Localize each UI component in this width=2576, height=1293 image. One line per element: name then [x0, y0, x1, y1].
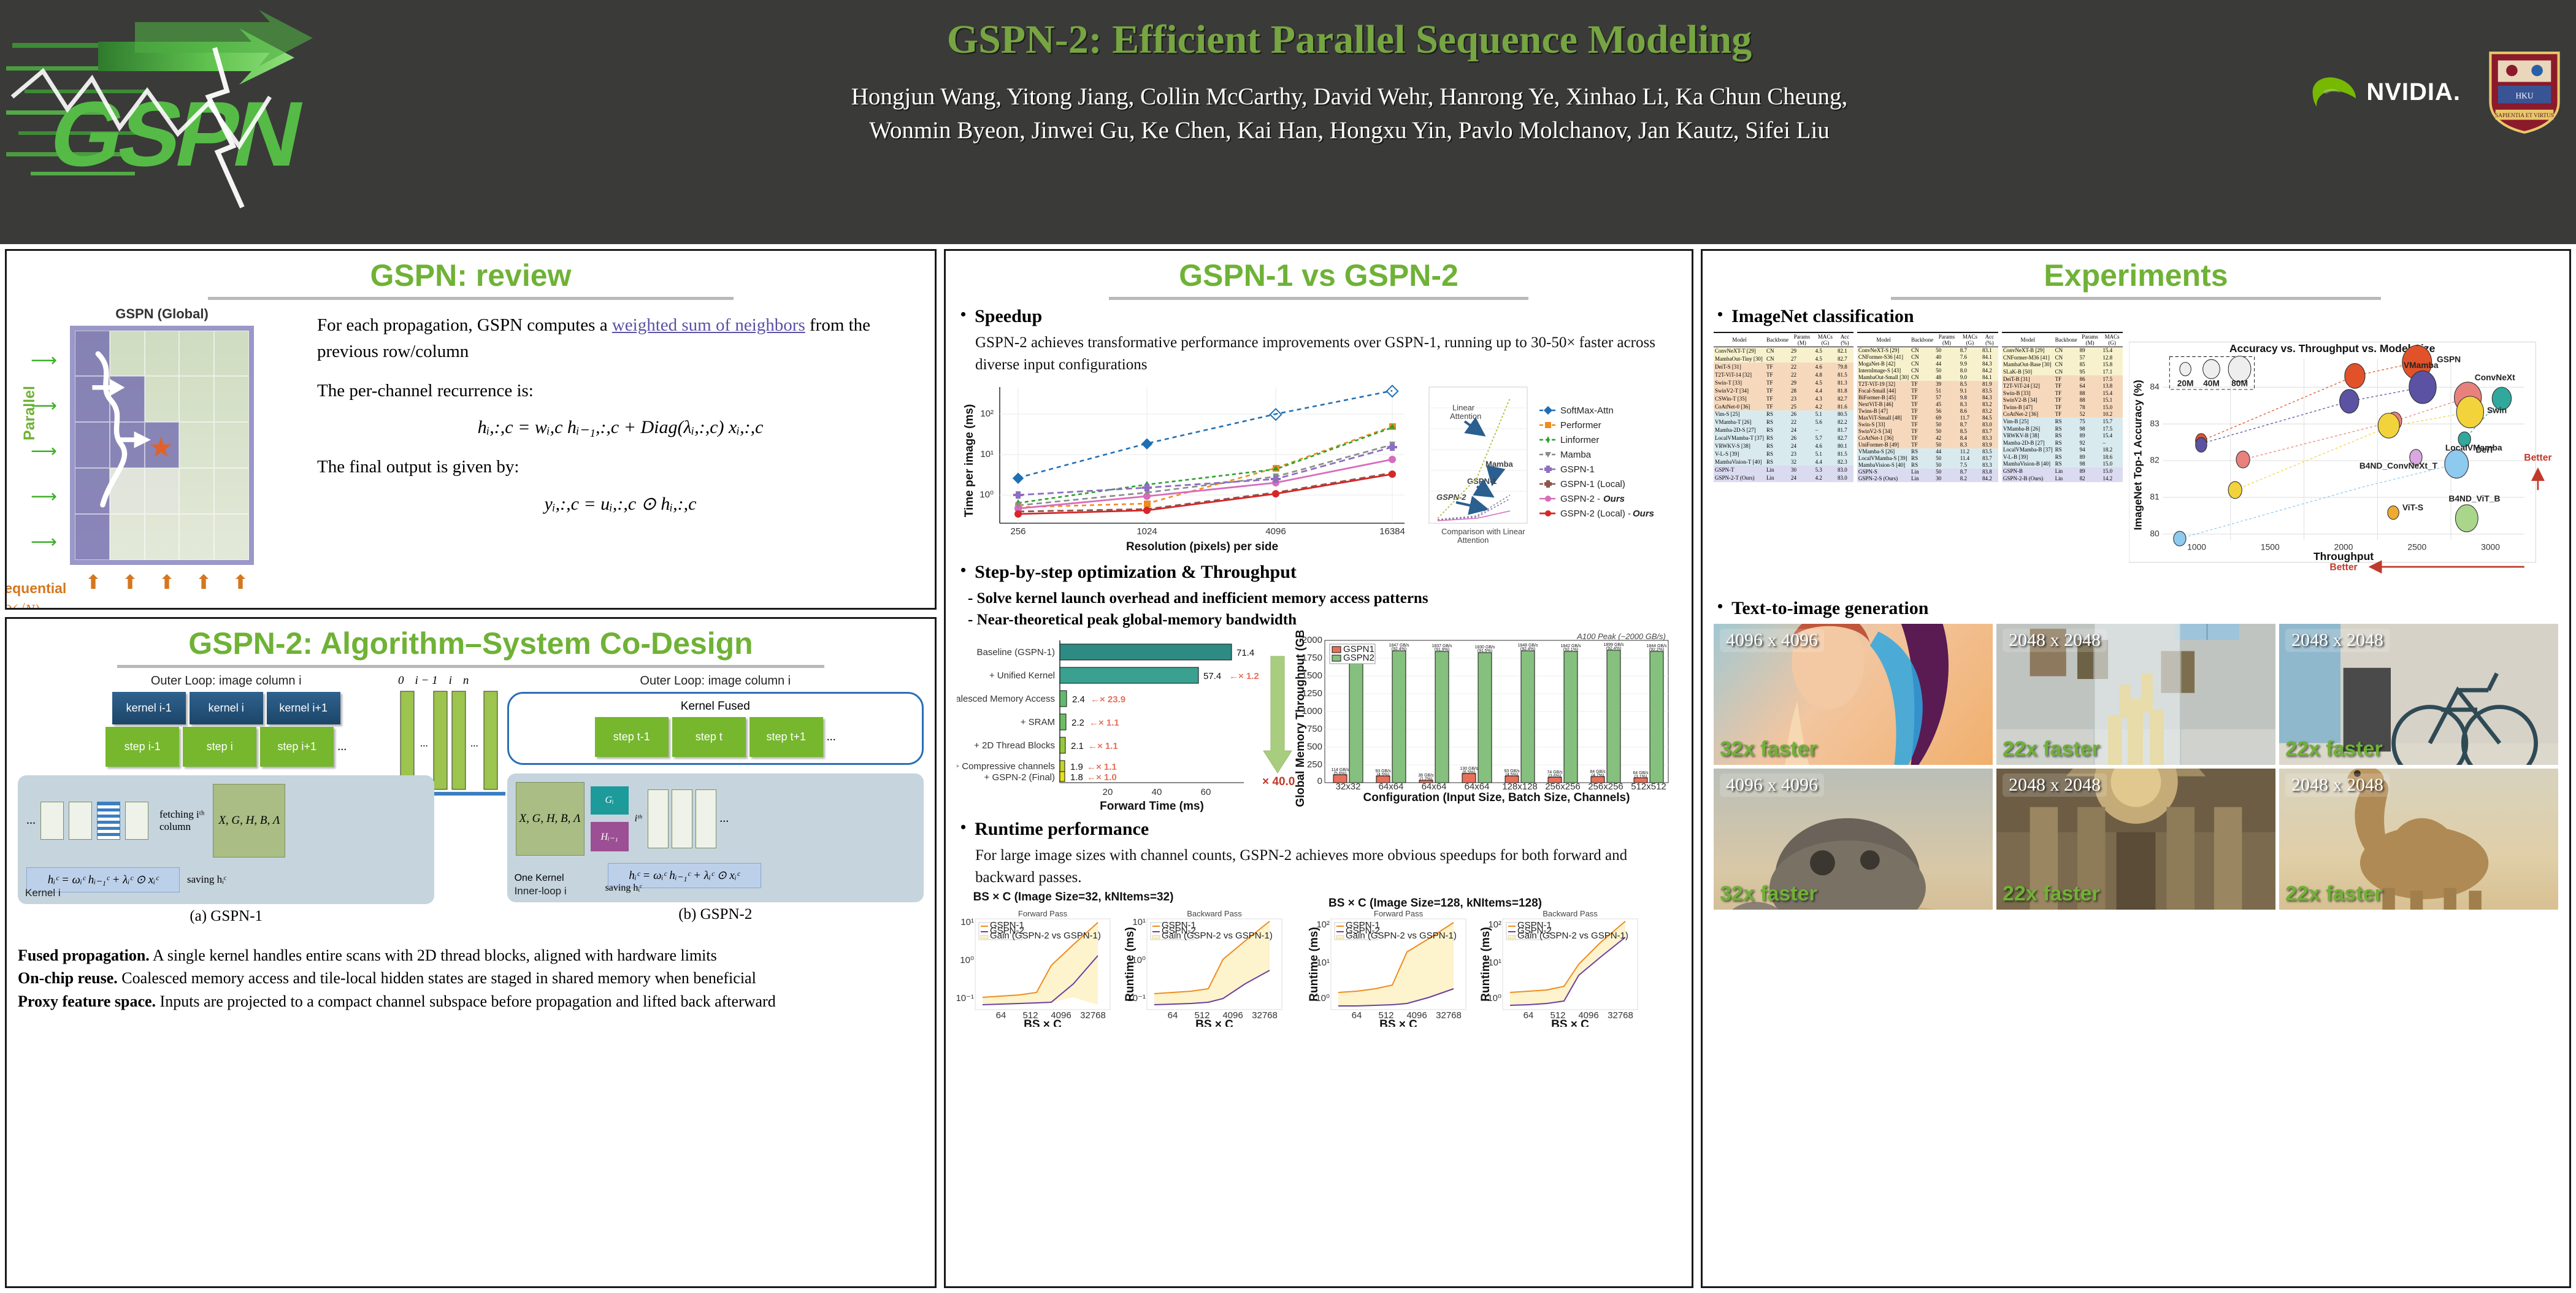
takeaway-lead: Proxy feature space.	[18, 992, 156, 1010]
gallery-speedup: 22x faster	[2003, 882, 2100, 906]
table-cell: 50	[1934, 428, 1959, 435]
table-cell: CNFormer-S36 [41]	[1857, 354, 1910, 361]
table-cell: 9.1	[1959, 388, 1981, 394]
svg-text:←× 1.1: ←× 1.1	[1089, 718, 1119, 728]
kernel-box: kernel i+1	[267, 692, 340, 724]
bullet-stepwise: • Step-by-step optimization & Throughput	[960, 562, 1681, 583]
svg-text:←× 1.1: ←× 1.1	[1087, 762, 1117, 772]
svg-text:Time per image (ms): Time per image (ms)	[963, 404, 976, 517]
table-cell: 64	[2079, 382, 2102, 389]
tensor-box: X, G, H, B, Λ	[516, 782, 585, 856]
gspn2-caption: (b) GSPN-2	[507, 906, 924, 923]
table-cell: 24	[1790, 474, 1814, 482]
table-row: Swin-T [33]TF294.581.3	[1714, 378, 1853, 386]
better-label-x: Better	[2329, 562, 2357, 572]
gallery-item[interactable]: 4096 x 4096 32x faster	[1714, 624, 1993, 765]
svg-text:+ Compressive channels: + Compressive channels	[957, 761, 1055, 772]
table-cell: Mamba-2D-S [27]	[1714, 426, 1765, 434]
table-cell: VMamba-T [26]	[1714, 418, 1765, 426]
svg-text:64x64: 64x64	[1379, 781, 1404, 792]
table-cell: 84.3	[1981, 394, 1998, 401]
table-cell: 83.3	[1981, 435, 1998, 442]
table-cell: RS	[1765, 450, 1790, 458]
chart-accuracy-throughput-modelsize: Accuracy vs. Throughput vs. Model Size 8…	[2129, 332, 2558, 589]
svg-text:Runtime (ms): Runtime (ms)	[1124, 927, 1137, 1001]
poster-header: GSPN GSPN-2: Efficient Parallel Sequence…	[0, 0, 2576, 244]
svg-text:Linformer: Linformer	[1560, 435, 1599, 445]
tbody-col2: ConvNeXT-S [29]CN508.783.1CNFormer-S36 […	[1857, 347, 1998, 482]
svg-text:Forward Time (ms): Forward Time (ms)	[1100, 800, 1204, 813]
arrow-right-icon: ⟶	[31, 442, 74, 461]
g-box: Gᵢ	[591, 786, 629, 815]
hku-crest-icon: HKU SAPIENTIA ET VIRTUS	[2485, 49, 2564, 135]
table-cell: 40	[1934, 354, 1959, 361]
arrow-up-icon: ⬆	[85, 572, 102, 592]
ith-label: iᵗʰ	[635, 813, 642, 824]
svg-text:1500: 1500	[2261, 542, 2280, 551]
table-cell: 50	[1934, 455, 1959, 462]
svg-text:Gain (GSPN-2 vs GSPN-1): Gain (GSPN-2 vs GSPN-1)	[1517, 930, 1628, 941]
svg-text:+ GSPN-2 (Final): + GSPN-2 (Final)	[984, 772, 1055, 783]
table-row: NextViT-B [46]TF458.383.2	[1857, 401, 1998, 408]
gspn1-caption: (a) GSPN-1	[18, 908, 434, 925]
table-cell: 15.0	[2101, 461, 2123, 468]
panel-gspn-review: GSPN: review GSPN (Global)	[5, 249, 937, 610]
table-cell: 81.8	[1836, 386, 1853, 394]
table-cell: GSPN-T	[1714, 466, 1765, 474]
bullet-runtime: • Runtime performance	[960, 819, 1681, 840]
table-cell: 80.5	[1836, 410, 1853, 418]
table-row: VMamba-T [26]RS225.682.2	[1714, 418, 1853, 426]
table-cell: MambaOut-Base [30]	[2002, 361, 2054, 369]
svg-text:64: 64	[1352, 1010, 1362, 1021]
table-cell: 5.6	[1814, 418, 1836, 426]
svg-text:Attention: Attention	[1457, 535, 1489, 545]
svg-text:ImageNet Top-1 Accuracy (%): ImageNet Top-1 Accuracy (%)	[2131, 380, 2144, 530]
section-rule	[1891, 297, 2381, 300]
takeaway-item: Fused propagation. A single kernel handl…	[18, 944, 924, 967]
table-cell: 5.1	[1814, 450, 1836, 458]
svg-text:(3.1%): (3.1%)	[1635, 775, 1647, 779]
legend-item: GSPN-2 (Local) - Ours	[1539, 508, 1654, 519]
table-cell: 4.2	[1814, 402, 1836, 410]
table-cell: TF	[1910, 388, 1934, 394]
th-acc: Acc (%)	[1836, 332, 1853, 347]
table-cell: 50	[1934, 469, 1959, 475]
table-cell: 82.1	[1836, 347, 1853, 355]
step-box: step t+1	[749, 717, 823, 757]
scatter-title: Accuracy vs. Throughput vs. Model Size	[2229, 342, 2436, 355]
svg-text:(92.4%): (92.4%)	[1520, 647, 1536, 651]
step-box: step i	[183, 727, 256, 767]
table-cell: 82.7	[1836, 355, 1853, 363]
table-cell: TF	[1910, 394, 1934, 401]
table-cell: 89	[2079, 453, 2102, 461]
takeaway-body: Inputs are projected to a compact channe…	[156, 992, 776, 1010]
table-cell: 83.5	[1981, 448, 1998, 455]
svg-text:83: 83	[2150, 418, 2160, 428]
table-cell: 82.7	[1836, 394, 1853, 402]
svg-text:BS × C: BS × C	[1379, 1018, 1417, 1027]
svg-text:Runtime (ms): Runtime (ms)	[1479, 927, 1492, 1001]
bullet-t2i: • Text-to-image generation	[1717, 598, 2558, 619]
gallery-item[interactable]: 4096 x 4096 32x faster	[1714, 769, 1993, 910]
gspn-global-figure: GSPN (Global)	[18, 306, 306, 565]
table-cell: Lin	[1765, 474, 1790, 482]
bullet-runtime-label: Runtime performance	[975, 819, 1149, 840]
table-cell: Lin	[2054, 467, 2079, 475]
table-cell: 17.1	[2101, 368, 2123, 375]
gallery-speedup: 22x faster	[2003, 737, 2100, 761]
table-cell: Lin	[2054, 475, 2079, 482]
table-cell: V-L-B [39]	[2002, 453, 2054, 461]
runtime-group-title-128: BS × C (Image Size=128, kNItems=128)	[1328, 897, 1542, 910]
table-cell: TF	[2054, 389, 2079, 397]
table-cell: MambaVision-T [40]	[1714, 458, 1765, 466]
svg-text:Global Memory Throughput (GB/s: Global Memory Throughput (GB/s)	[1294, 631, 1307, 807]
scatter-label-gspn: GSPN	[2437, 354, 2461, 364]
table-cell: SwinV2-B [34]	[2002, 396, 2054, 404]
column-middle: GSPN-1 vs GSPN-2 • Speedup GSPN-2 achiev…	[944, 249, 1693, 1288]
table-cell: 92	[2079, 439, 2102, 447]
svg-text:Ours: Ours	[1633, 508, 1654, 519]
table-cell: TF	[2054, 382, 2079, 389]
th-macs: MACs (G)	[2101, 332, 2123, 347]
table-row: Twins-B [47]TF7815.0	[2002, 404, 2123, 411]
gallery-item[interactable]: 2048 x 2048 22x faster	[1996, 769, 2275, 910]
table-cell: TF	[1765, 363, 1790, 370]
gspn1-outer-loop-label: Outer Loop: image column i	[18, 674, 434, 688]
gallery-resolution: 2048 x 2048	[2003, 629, 2107, 652]
saving-label: saving hᵢᶜ	[187, 873, 226, 886]
svg-text:...: ...	[470, 737, 478, 749]
table-cell: BiFormer-B [45]	[1857, 394, 1910, 401]
table-cell: 80.1	[1836, 442, 1853, 450]
kernel-box: kernel i-1	[112, 692, 186, 724]
table-cell: 83.7	[1981, 428, 1998, 435]
svg-text:SAPIENTIA ET VIRTUS: SAPIENTIA ET VIRTUS	[2495, 113, 2554, 119]
section-rule	[117, 665, 824, 668]
svg-text:Backward Pass: Backward Pass	[1543, 909, 1598, 918]
svg-text:10¹: 10¹	[960, 917, 974, 927]
speedup-description: GSPN-2 achieves transformative performan…	[975, 332, 1681, 377]
table-cell: NextViT-B [46]	[1857, 401, 1910, 408]
t2i-gallery: 4096 x 4096 32x faster	[1714, 624, 2558, 910]
table-row: CNFormer-S36 [41]CN407.684.1	[1857, 354, 1998, 361]
svg-text:10²: 10²	[980, 409, 994, 419]
table-cell: 29	[1790, 347, 1814, 355]
step-box: step t-1	[595, 717, 669, 757]
table-row: Vim-S [25]RS265.180.5	[1714, 410, 1853, 418]
svg-text:+ SRAM: + SRAM	[1021, 717, 1055, 727]
table-cell: RS	[2054, 453, 2079, 461]
gspn2-outer-loop-label: Outer Loop: image column i	[507, 674, 924, 688]
table-cell: MambaVision-B [40]	[2002, 461, 2054, 468]
col-index-i: i	[449, 674, 452, 688]
table-row: CSWin-T [35]TF234.382.7	[1714, 394, 1853, 402]
scatter-label-b4nd-convnext: B4ND_ConvNeXt_T	[2359, 460, 2438, 470]
throughput-legend: GSPN1 GSPN2	[1330, 644, 1375, 664]
svg-text:1.9: 1.9	[1070, 762, 1083, 772]
table-cell: Vim-B [25]	[2002, 418, 2054, 425]
table-cell: 8.7	[1959, 421, 1981, 428]
table-cell: TF	[2054, 375, 2079, 383]
gallery-item[interactable]: 2048 x 2048 22x faster	[2279, 624, 2558, 765]
svg-text:←× 1.2: ←× 1.2	[1229, 671, 1259, 681]
table-cell: TF	[1910, 401, 1934, 408]
table-cell: 95	[2079, 368, 2102, 375]
svg-text:40M: 40M	[2203, 378, 2220, 388]
arrow-up-icon: ⬆	[232, 572, 249, 592]
table-cell: DeiT-B [31]	[2002, 375, 2054, 383]
table-cell: –	[1814, 426, 1836, 434]
svg-text:A100 Peak (~2000 GB/s): A100 Peak (~2000 GB/s)	[1576, 632, 1666, 641]
table-cell: 50	[1934, 421, 1959, 428]
table-cell: 13.8	[2101, 382, 2123, 389]
svg-text:Forward Pass: Forward Pass	[1018, 909, 1068, 918]
table-cell: TF	[1910, 381, 1934, 388]
table-cell: TF	[1765, 386, 1790, 394]
bullet-icon: •	[960, 562, 966, 580]
table-cell: 44	[1934, 448, 1959, 455]
svg-text:2.2: 2.2	[1071, 718, 1084, 728]
svg-text:(92.1%): (92.1%)	[1563, 648, 1579, 652]
table-row: SLaK-B [50]CN9517.1	[2002, 368, 2123, 375]
table-cell: CoAtNet-2 [36]	[2002, 411, 2054, 418]
th-params: Params (M)	[2079, 332, 2102, 347]
table-cell: 81.3	[1836, 378, 1853, 386]
bullet-speedup-label: Speedup	[975, 306, 1042, 327]
legend-item: SoftMax-Attn	[1539, 405, 1614, 416]
table-row: MambaVision-S [40]RS507.583.3	[1857, 462, 1998, 469]
table-cell: 11.4	[1959, 455, 1981, 462]
table-cell: CN	[2054, 368, 2079, 375]
svg-text:BS × C: BS × C	[1024, 1018, 1062, 1027]
svg-text:4096: 4096	[1265, 526, 1286, 537]
table-cell: GSPN-B	[2002, 467, 2054, 475]
table-cell: 84.1	[1981, 354, 1998, 361]
step-ellipsis: ...	[337, 740, 347, 754]
svg-text:1.8: 1.8	[1070, 772, 1083, 783]
section-title-review: GSPN: review	[18, 259, 924, 292]
chart-speedup-legend: SoftMax-Attn Performer Linformer Mamba G…	[1539, 405, 1654, 519]
table-row: CoAtNet-0 [36]TF254.281.6	[1714, 402, 1853, 410]
table-row: GSPN-SLin508.783.8	[1857, 469, 1998, 475]
runtime-panel: Backward Pass 10¹10⁰10⁻¹ 64512409632768 …	[1124, 909, 1282, 1027]
legend-item: Linformer	[1539, 435, 1599, 445]
table-cell: TF	[1765, 370, 1790, 378]
table-cell: 22	[1790, 370, 1814, 378]
takeaway-item: Proxy feature space. Inputs are projecte…	[18, 990, 924, 1013]
svg-text:64: 64	[996, 1010, 1006, 1021]
svg-text:750: 750	[1307, 724, 1322, 734]
table-cell: 89	[2079, 432, 2102, 439]
table-cell: Lin	[1910, 469, 1934, 475]
table-cell: CNFormer-M36 [41]	[2002, 354, 2054, 361]
table-cell: TF	[1910, 435, 1934, 442]
table-cell: 57	[1934, 394, 1959, 401]
better-label-y: Better	[2524, 453, 2551, 463]
svg-text:× 40.0: × 40.0	[1262, 775, 1295, 788]
step-box: step i+1	[260, 727, 334, 767]
imagenet-table-col1: Model Backbone Params (M) MACs (G) Acc (…	[1714, 332, 1853, 482]
table-cell: 82.7	[1836, 434, 1853, 442]
svg-text:40: 40	[1152, 787, 1162, 797]
svg-text:1000: 1000	[2187, 542, 2206, 551]
runtime-description: For large image sizes with channel count…	[975, 845, 1681, 889]
sequential-arrows: ⬆⬆ ⬆⬆ ⬆	[75, 572, 259, 592]
svg-text:Linear: Linear	[1452, 403, 1475, 412]
table-cell: RS	[2054, 446, 2079, 453]
table-cell: CN	[1765, 355, 1790, 363]
gallery-resolution: 2048 x 2048	[2285, 773, 2390, 797]
table-cell: 30	[1934, 475, 1959, 482]
table-cell: 7.5	[1959, 462, 1981, 469]
table-row: LocalVMamba-B [37]RS9418.2	[2002, 446, 2123, 453]
svg-text:GSPN-2 -: GSPN-2 -	[1560, 494, 1600, 504]
table-cell: 4.6	[1814, 442, 1836, 450]
table-row: GSPN-BLin8915.0	[2002, 467, 2123, 475]
table-cell: 42	[1934, 435, 1959, 442]
table-cell: 8.4	[1959, 435, 1981, 442]
weighted-sum-link[interactable]: weighted sum of neighbors	[612, 315, 805, 335]
codesign-takeaways: Fused propagation. A single kernel handl…	[18, 944, 924, 1013]
title-block: GSPN-2: Efficient Parallel Sequence Mode…	[552, 5, 2147, 148]
table-row: InternImage-S [43]CN508.084.2	[1857, 367, 1998, 374]
striped-tile-icon	[97, 802, 120, 840]
table-cell: 14.2	[2101, 475, 2123, 482]
table-cell: 45	[1934, 401, 1959, 408]
th-backbone: Backbone	[2054, 332, 2079, 347]
table-cell: 81.5	[1836, 450, 1853, 458]
table-cell: 8.3	[1959, 442, 1981, 448]
table-row: VMamba-B [26]RS9817.5	[2002, 425, 2123, 432]
table-cell: LocalVMamba-T [37]	[1714, 434, 1765, 442]
svg-text:(92.4%): (92.4%)	[1392, 647, 1407, 651]
table-cell: 83.8	[1981, 469, 1998, 475]
table-cell: CN	[1910, 361, 1934, 367]
imagenet-tables: Model Backbone Params (M) MACs (G) Acc (…	[1714, 332, 2123, 482]
table-cell: 15.4	[2101, 432, 2123, 439]
table-cell: 5.7	[1814, 434, 1836, 442]
gspn1-stage: ... fetching iᵗʰ column X, G, H, B, Λ	[18, 775, 434, 904]
table-cell: 81.5	[1836, 370, 1853, 378]
gallery-speedup: 32x faster	[1720, 737, 1817, 761]
svg-text:10¹: 10¹	[1132, 917, 1146, 927]
table-cell: –	[2101, 439, 2123, 447]
table-cell: 4.5	[1814, 347, 1836, 355]
table-row: VRWKV-B [38]RS8915.4	[2002, 432, 2123, 439]
table-cell: Lin	[1765, 466, 1790, 474]
svg-text:10⁻¹: 10⁻¹	[957, 993, 974, 1003]
svg-text:57.4: 57.4	[1203, 671, 1221, 681]
table-cell: 15.7	[2101, 418, 2123, 425]
arrow-up-icon: ⬆	[159, 572, 175, 592]
svg-text:10¹: 10¹	[980, 449, 994, 459]
table-cell: 7.6	[1959, 354, 1981, 361]
section-title-codesign: GSPN-2: Algorithm–System Co-Design	[18, 627, 924, 660]
takeaway-body: Coalesced memory access and tile-local h…	[118, 969, 756, 987]
gspn1-diagram: Outer Loop: image column i kernel i-1 ke…	[18, 674, 434, 925]
th-model: Model	[1714, 332, 1765, 347]
bullet-icon: •	[1717, 598, 1723, 616]
tbody-col1: ConvNeXT-T [29]CN294.582.1MambaOut-Tiny …	[1714, 347, 1853, 482]
table-cell: VMamba-S [26]	[1857, 448, 1910, 455]
table-cell: 81.6	[1836, 402, 1853, 410]
panel-compare: GSPN-1 vs GSPN-2 • Speedup GSPN-2 achiev…	[944, 249, 1693, 1288]
table-cell: 4.4	[1814, 386, 1836, 394]
table-cell: 50	[1934, 442, 1959, 448]
table-row: SwinV2-B [34]TF8815.1	[2002, 396, 2123, 404]
gspn-grid-illustration: ★ ⟶⟶ ⟶⟶ ⟶ ⬆⬆ ⬆⬆ ⬆ Parallel	[70, 326, 254, 565]
svg-text:Gain (GSPN-2 vs GSPN-1): Gain (GSPN-2 vs GSPN-1)	[1162, 930, 1273, 941]
svg-text:GSPN-1 (Local): GSPN-1 (Local)	[1560, 479, 1625, 489]
chart-linear-attention-inset: Linear Attention Mamba GSPN-1 GSPN-2	[1429, 387, 1527, 545]
table-cell: 84.1	[1981, 374, 1998, 381]
svg-text:64: 64	[1168, 1010, 1178, 1021]
table-cell: RS	[1910, 462, 1934, 469]
table-cell: CN	[2054, 354, 2079, 361]
table-cell: 50	[1934, 462, 1959, 469]
table-cell: 9.8	[1959, 394, 1981, 401]
table-cell: RS	[1765, 418, 1790, 426]
gallery-item[interactable]: 2048 x 2048 22x faster	[1996, 624, 2275, 765]
table-cell: 56	[1934, 408, 1959, 415]
svg-text:(91.5%): (91.5%)	[1478, 649, 1493, 653]
label-parallel: Parallel	[21, 386, 39, 440]
review-p1-part-a: For each propagation, GSPN computes a	[317, 315, 612, 335]
review-text-block: For each propagation, GSPN computes a we…	[317, 306, 924, 531]
table-cell: Twins-B [47]	[2002, 404, 2054, 411]
table-cell: 4.8	[1814, 370, 1836, 378]
th-model: Model	[2002, 332, 2054, 347]
table-cell: 83.7	[1981, 455, 1998, 462]
table-cell: ConvNeXT-B [29]	[2002, 347, 2054, 354]
column-left: GSPN: review GSPN (Global)	[5, 249, 937, 1288]
svg-text:128x128: 128x128	[1502, 781, 1538, 792]
table-cell: 15.0	[2101, 467, 2123, 475]
table-cell: RS	[1765, 434, 1790, 442]
table-row: V-L-S [39]RS235.181.5	[1714, 450, 1853, 458]
svg-text:Gain (GSPN-2 vs GSPN-1): Gain (GSPN-2 vs GSPN-1)	[1346, 930, 1457, 941]
th-model: Model	[1857, 332, 1910, 347]
svg-text:Forward Pass: Forward Pass	[1374, 909, 1424, 918]
svg-text:(92.2%): (92.2%)	[1649, 648, 1665, 652]
runtime-panel: Backward Pass 10²10¹10⁰ 64512409632768 B…	[1479, 909, 1638, 1027]
svg-text:64: 64	[1524, 1010, 1534, 1021]
runtime-panel: Forward Pass 10¹10⁰10⁻¹ 64512409632768 B…	[957, 909, 1110, 1027]
legend-item: Performer	[1539, 420, 1601, 431]
nvidia-eye-icon	[2307, 72, 2360, 112]
table-cell: 83.0	[1836, 474, 1853, 482]
svg-text:BS × C: BS × C	[1551, 1018, 1589, 1027]
table-cell: 48	[1934, 374, 1959, 381]
gallery-item[interactable]: 2048 x 2048 22x faster	[2279, 769, 2558, 910]
table-cell: RS	[2054, 461, 2079, 468]
target-star-icon: ★	[148, 434, 174, 462]
table-row: MambaOut-Tiny [30]CN274.582.7	[1714, 355, 1853, 363]
svg-text:GSPN-1: GSPN-1	[1560, 464, 1595, 475]
label-sequential: Sequential	[5, 580, 66, 597]
table-row: ConvNeXT-B [29]CN8915.4	[2002, 347, 2123, 354]
h-box: Hᵢ₋₁	[591, 822, 629, 851]
scatter-label-convnext: ConvNeXt	[2475, 372, 2515, 382]
figure-caption: GSPN (Global)	[18, 306, 306, 322]
takeaway-item: On-chip reuse. Coalesced memory access a…	[18, 967, 924, 990]
table-cell: 8.7	[1959, 347, 1981, 354]
table-cell: 88	[2079, 396, 2102, 404]
table-cell: 4.2	[1814, 474, 1836, 482]
